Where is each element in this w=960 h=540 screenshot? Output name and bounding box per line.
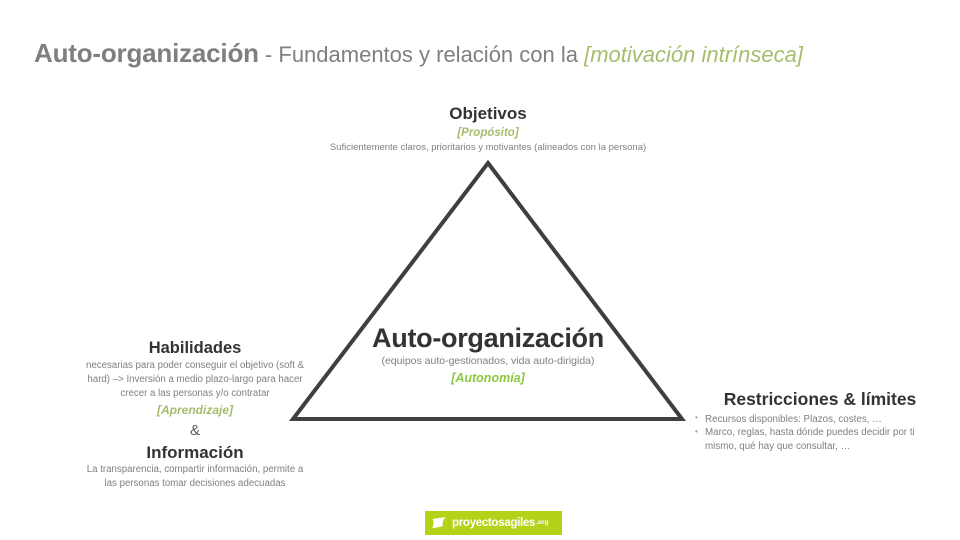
informacion-heading: Información xyxy=(82,442,308,463)
habilidades-description: necesarias para poder conseguir el objet… xyxy=(82,359,308,400)
center-accent: [Autonomía] xyxy=(338,369,638,388)
page-leaf-icon xyxy=(431,516,448,531)
center-title: Auto-organización xyxy=(338,324,638,354)
connector-ampersand: & xyxy=(82,419,308,443)
vertex-objetivos: Objetivos [Propósito] Suficientemente cl… xyxy=(288,103,688,155)
habilidades-heading: Habilidades xyxy=(82,338,308,359)
objetivos-heading: Objetivos xyxy=(288,103,688,125)
page-title: Auto-organización - Fundamentos y relaci… xyxy=(34,38,934,69)
logo-tld: .org xyxy=(535,520,548,527)
slide-canvas: Auto-organización - Fundamentos y relaci… xyxy=(0,0,960,540)
restricciones-bullet-list: Recursos disponibles: Plazos, costes, … … xyxy=(692,413,948,454)
title-subtitle-text: Fundamentos y relación con la xyxy=(278,42,584,67)
center-subtitle: (equipos auto-gestionados, vida auto-dir… xyxy=(338,354,638,370)
logo-name-light: agiles xyxy=(504,516,535,529)
vertex-restricciones: Restricciones & límites Recursos disponi… xyxy=(692,388,948,453)
list-item: Recursos disponibles: Plazos, costes, … xyxy=(692,413,948,427)
center-auto-organizacion: Auto-organización (equipos auto-gestiona… xyxy=(338,324,638,388)
list-item: Marco, reglas, hasta dónde puedes decidi… xyxy=(692,426,948,453)
informacion-description: La transparencia, compartir información,… xyxy=(82,463,308,491)
vertex-habilidades-informacion: Habilidades necesarias para poder conseg… xyxy=(82,338,308,491)
habilidades-accent: [Aprendizaje] xyxy=(82,401,308,419)
logo-wordmark: proyectosagiles xyxy=(452,517,535,529)
objetivos-accent: [Propósito] xyxy=(288,125,688,142)
title-main-text: Auto-organización xyxy=(34,38,259,68)
objetivos-description: Suficientemente claros, prioritarios y m… xyxy=(288,142,688,155)
proyectos-agiles-logo[interactable]: proyectosagiles .org xyxy=(425,511,562,535)
title-separator: - xyxy=(259,42,279,67)
restricciones-heading: Restricciones & límites xyxy=(692,388,948,411)
logo-name-bold: proyectos xyxy=(452,516,504,529)
title-accent-text: [motivación intrínseca] xyxy=(584,42,803,67)
